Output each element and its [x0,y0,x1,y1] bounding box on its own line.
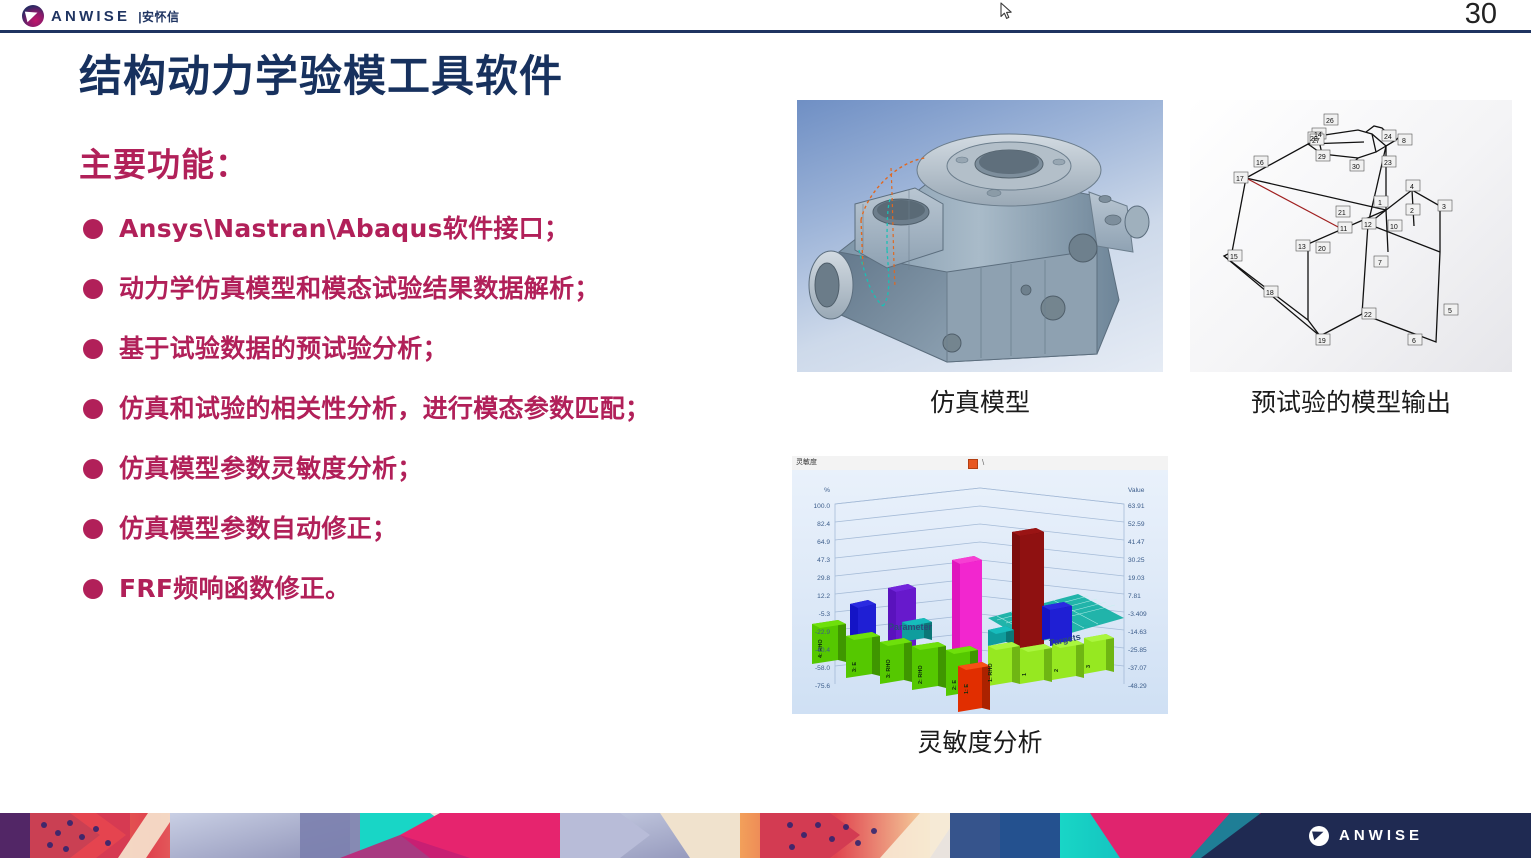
list-item: FRF频响函数修正。 [83,570,803,630]
list-item-label: Ansys\Nastran\Abaqus软件接口； [119,210,569,248]
anwise-swoosh-logo-icon [1309,826,1329,846]
svg-text:2: 2 [1410,208,1414,215]
sensitivity-3d-bars: Parameter Targets 4: RHO 3: E 3: RHO 2: … [792,470,1168,714]
svg-text:-75.6: -75.6 [815,683,830,690]
bullet-dot-icon [83,519,103,539]
svg-text:21: 21 [1338,210,1346,217]
svg-text:6: 6 [1412,338,1416,345]
brand-logo: ANWISE |安怀信 [22,4,180,28]
svg-text:-3.409: -3.409 [1128,611,1147,618]
svg-text:3: E: 3: E [852,662,858,672]
svg-text:%: % [824,487,830,494]
list-item: 基于试验数据的预试验分析； [83,330,803,390]
svg-text:3: 3 [1086,665,1092,668]
anwise-swoosh-logo-icon [22,5,44,27]
svg-text:3: RHO: 3: RHO [886,659,892,678]
svg-text:23: 23 [1384,160,1392,167]
svg-text:30.25: 30.25 [1128,557,1145,564]
svg-text:82.4: 82.4 [817,521,830,528]
stop-square-icon[interactable] [968,459,978,469]
svg-text:20: 20 [1318,246,1326,253]
svg-text:26: 26 [1326,118,1334,125]
backslash-icon[interactable]: \ [982,458,984,467]
svg-text:1: 1 [1378,200,1382,207]
slide-footer: ANWISE [0,813,1531,858]
bullet-dot-icon [83,399,103,419]
svg-text:10: 10 [1390,224,1398,231]
wireframe-model-image: 123 456 7810 111213 141516 171819 202122… [1190,100,1512,372]
svg-text:-25.85: -25.85 [1128,647,1147,654]
svg-text:-37.07: -37.07 [1128,665,1147,672]
svg-text:52.59: 52.59 [1128,521,1145,528]
sensitivity-chart-window[interactable]: 灵敏度 \ [792,456,1168,714]
svg-text:1: RHO: 1: RHO [988,663,994,682]
list-item-label: 仿真模型参数灵敏度分析； [119,450,423,488]
svg-text:Value: Value [1128,487,1145,494]
list-item: 仿真模型参数灵敏度分析； [83,450,803,510]
chart-window-title: 灵敏度 [796,457,817,467]
cad-model-caption: 仿真模型 [797,390,1163,415]
list-item-label: 动力学仿真模型和模态试验结果数据解析； [119,270,600,308]
svg-text:4: 4 [1410,184,1414,191]
cad-model-render [797,100,1163,372]
svg-text:41.47: 41.47 [1128,539,1145,546]
svg-text:2: RHO: 2: RHO [918,665,924,684]
section-subtitle: 主要功能： [79,148,249,181]
svg-text:-22.9: -22.9 [815,629,830,636]
bullet-dot-icon [83,219,103,239]
svg-text:7: 7 [1378,260,1382,267]
list-item-label: FRF频响函数修正。 [119,570,350,608]
svg-text:16: 16 [1256,160,1264,167]
svg-text:15: 15 [1230,254,1238,261]
list-item: 动力学仿真模型和模态试验结果数据解析； [83,270,803,330]
list-item-label: 基于试验数据的预试验分析； [119,330,448,368]
svg-text:-58.0: -58.0 [815,665,830,672]
svg-text:13: 13 [1298,244,1306,251]
svg-text:30: 30 [1352,164,1360,171]
svg-text:1: E: 1: E [964,684,970,694]
svg-text:19.03: 19.03 [1128,575,1145,582]
svg-text:2: E: 2: E [952,680,958,690]
svg-text:2: 2 [1054,669,1060,672]
svg-text:8: 8 [1402,138,1406,145]
mouse-pointer-icon [1000,2,1013,20]
svg-text:-14.63: -14.63 [1128,629,1147,636]
svg-text:100.0: 100.0 [813,503,830,510]
footer-brand-name: ANWISE [1339,827,1423,844]
chart-titlebar: 灵敏度 \ [792,456,1168,470]
slide-canvas: ANWISE |安怀信 30 结构动力学验模工具软件 主要功能： Ansys\N… [0,0,1531,858]
svg-text:19: 19 [1318,338,1326,345]
svg-text:17: 17 [1236,176,1244,183]
chart-plot-area: Parameter Targets 4: RHO 3: E 3: RHO 2: … [792,470,1168,714]
svg-text:7.81: 7.81 [1128,593,1141,600]
svg-text:63.91: 63.91 [1128,503,1145,510]
bullet-dot-icon [83,459,103,479]
svg-text:29.8: 29.8 [817,575,830,582]
svg-text:3: 3 [1442,204,1446,211]
wireframe-model-caption: 预试验的模型输出 [1190,390,1512,415]
feature-list: Ansys\Nastran\Abaqus软件接口； 动力学仿真模型和模态试验结果… [83,210,803,630]
svg-text:5: 5 [1448,308,1452,315]
svg-text:24: 24 [1384,134,1392,141]
svg-text:1: 1 [1022,673,1028,676]
svg-text:12.2: 12.2 [817,593,830,600]
svg-text:18: 18 [1266,290,1274,297]
chart-xaxis-label: Parameter [888,622,933,632]
list-item: 仿真和试验的相关性分析，进行模态参数匹配； [83,390,803,450]
bullet-dot-icon [83,579,103,599]
svg-text:47.3: 47.3 [817,557,830,564]
page-title: 结构动力学验模工具软件 [79,56,563,99]
header-divider [0,30,1531,33]
chart-right-axis: Value 63.91 52.59 41.47 30.25 19.03 7.81… [1128,487,1147,690]
svg-text:29: 29 [1318,154,1326,161]
list-item-label: 仿真模型参数自动修正； [119,510,397,548]
slide-header: ANWISE |安怀信 30 [0,0,1531,31]
brand-name: ANWISE [51,9,130,24]
brand-name-cn: |安怀信 [138,8,179,25]
list-item: Ansys\Nastran\Abaqus软件接口； [83,210,803,270]
svg-text:27: 27 [1312,138,1320,145]
svg-text:12: 12 [1364,222,1372,229]
page-number: 30 [1465,0,1497,29]
wireframe-render: 123 456 7810 111213 141516 171819 202122… [1190,100,1512,372]
sensitivity-chart-caption: 灵敏度分析 [792,730,1168,755]
list-item: 仿真模型参数自动修正； [83,510,803,570]
svg-text:64.9: 64.9 [817,539,830,546]
bullet-dot-icon [83,339,103,359]
svg-text:-40.4: -40.4 [815,647,830,654]
svg-text:11: 11 [1340,226,1347,233]
svg-text:22: 22 [1364,312,1372,319]
bullet-dot-icon [83,279,103,299]
svg-text:-48.29: -48.29 [1128,683,1147,690]
cad-model-image [797,100,1163,372]
svg-text:-5.3: -5.3 [819,611,831,618]
list-item-label: 仿真和试验的相关性分析，进行模态参数匹配； [119,390,650,428]
